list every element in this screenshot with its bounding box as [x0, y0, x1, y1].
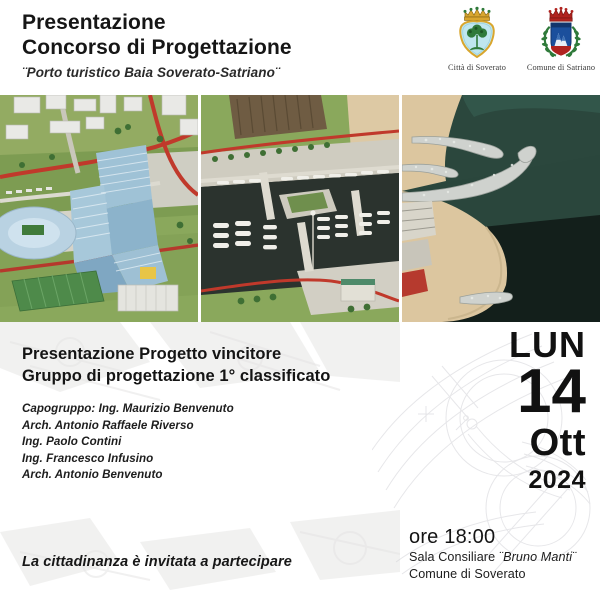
team-member: Ing. Francesco Infusino	[22, 451, 392, 468]
event-date: LUN 14 Ott 2024	[509, 326, 586, 495]
event-venue-line-2: Comune di Soverato	[409, 566, 576, 583]
event-time: ore 18:00	[409, 525, 576, 549]
soverato-crest-icon	[449, 4, 505, 62]
venue-prefix: Sala Consiliare	[409, 550, 499, 564]
soverato-crest: Città di Soverato	[446, 4, 508, 72]
event-venue-line-1: Sala Consiliare ¨Bruno Manti¨	[409, 549, 576, 566]
winner-heading-line-1: Presentazione Progetto vincitore	[22, 344, 392, 365]
team-member: Arch. Antonio Benvenuto	[22, 467, 392, 484]
aerial-photo-coast	[402, 95, 600, 322]
event-day: 14	[509, 363, 586, 421]
event-month: Ott	[509, 421, 586, 465]
satriano-crest-caption: Comune di Satriano	[527, 63, 595, 72]
poster-header: Presentazione Concorso di Progettazione …	[0, 0, 600, 95]
image-band	[0, 95, 600, 322]
team-member: Arch. Antonio Raffaele Riverso	[22, 418, 392, 435]
design-team-list: Capogruppo: Ing. Maurizio Benvenuto Arch…	[22, 401, 392, 484]
project-subtitle: ¨Porto turistico Baia Soverato-Satriano¨	[22, 63, 292, 83]
event-time-venue: ore 18:00 Sala Consiliare ¨Bruno Manti¨ …	[409, 525, 576, 583]
aerial-render-town	[0, 95, 198, 322]
venue-name: ¨Bruno Manti¨	[499, 550, 577, 564]
team-member: Ing. Paolo Contini	[22, 434, 392, 451]
winner-heading-line-2: Gruppo di progettazione 1° classificato	[22, 365, 392, 387]
title-line-1: Presentazione	[22, 10, 292, 35]
team-member: Capogruppo: Ing. Maurizio Benvenuto	[22, 401, 392, 418]
soverato-crest-caption: Città di Soverato	[448, 63, 506, 72]
aerial-render-marina	[201, 95, 399, 322]
title-block: Presentazione Concorso di Progettazione …	[22, 10, 292, 83]
event-year: 2024	[509, 465, 586, 495]
satriano-crest-icon	[533, 4, 589, 62]
winner-info-block: Presentazione Progetto vincitore Gruppo …	[22, 344, 392, 484]
lower-section: Presentazione Progetto vincitore Gruppo …	[0, 322, 600, 600]
poster: Presentazione Concorso di Progettazione …	[0, 0, 600, 600]
satriano-crest: Comune di Satriano	[530, 4, 592, 72]
crest-group: Città di Soverato	[446, 4, 592, 72]
event-details-block: LUN 14 Ott 2024 ore 18:00 Sala Consiliar…	[400, 322, 600, 600]
title-line-2: Concorso di Progettazione	[22, 35, 292, 61]
invitation-text: La cittadinanza è invitata a partecipare	[22, 554, 292, 570]
